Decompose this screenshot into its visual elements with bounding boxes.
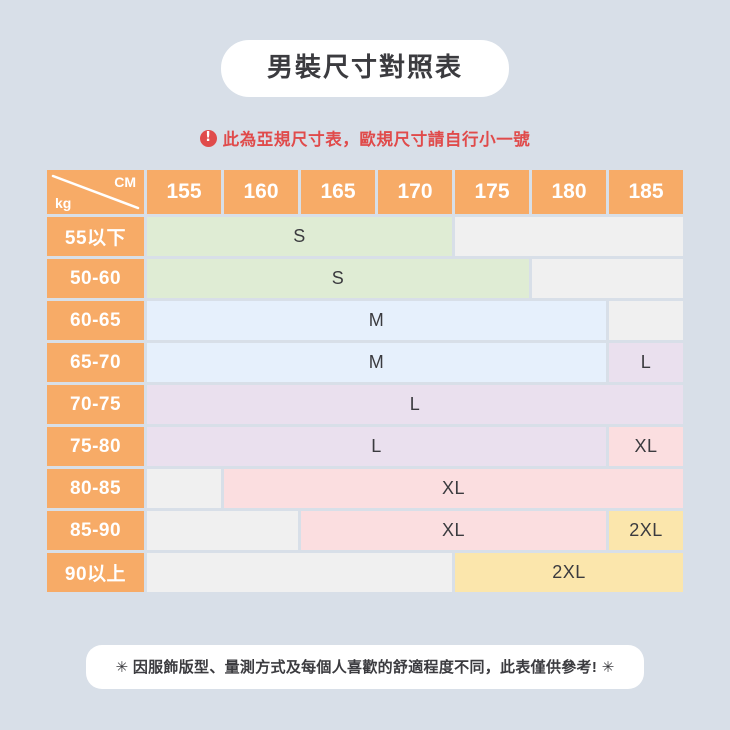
size-cell-XL: XL [301,511,606,550]
empty-cell [147,469,221,508]
empty-cell [609,301,683,340]
column-header-155: 155 [147,170,221,214]
table-row: 50-60S [47,259,683,298]
row-header-85-90: 85-90 [47,511,144,550]
size-cell-L: L [147,427,606,466]
table-row: 75-80LXL [47,427,683,466]
row-header-60-65: 60-65 [47,301,144,340]
table-row: 70-75L [47,385,683,424]
column-header-180: 180 [532,170,606,214]
size-cell-L: L [147,385,683,424]
table-row: 55以下S [47,217,683,256]
subtitle-container: ! 此為亞規尺寸表，歐規尺寸請自行小一號 [0,126,730,150]
empty-cell [455,217,683,256]
size-cell-M: M [147,343,606,382]
axis-label-cm: CM [114,174,136,190]
page-title-container: 男裝尺寸對照表 [0,40,730,97]
page-title: 男裝尺寸對照表 [221,40,509,97]
axis-label-kg: kg [55,195,71,211]
table-row: 80-85XL [47,469,683,508]
row-header-65-70: 65-70 [47,343,144,382]
row-header-80-85: 80-85 [47,469,144,508]
column-header-185: 185 [609,170,683,214]
empty-cell [532,259,683,298]
column-header-165: 165 [301,170,375,214]
size-cell-S: S [147,259,529,298]
size-cell-2XL: 2XL [455,553,683,592]
column-header-170: 170 [378,170,452,214]
footer-note: ✳ 因服飾版型、量測方式及每個人喜歡的舒適程度不同，此表僅供參考! ✳ [86,645,645,689]
size-chart-table: CMkg15516016517017518018555以下S50-60S60-6… [47,170,683,592]
row-header-75-80: 75-80 [47,427,144,466]
row-header-50-60: 50-60 [47,259,144,298]
table-row: 85-90XL2XL [47,511,683,550]
size-cell-XL: XL [609,427,683,466]
axis-corner-cell: CMkg [47,170,144,214]
row-header-70-75: 70-75 [47,385,144,424]
table-row: 65-70ML [47,343,683,382]
column-header-175: 175 [455,170,529,214]
size-cell-2XL: 2XL [609,511,683,550]
column-header-160: 160 [224,170,298,214]
size-cell-L: L [609,343,683,382]
warning-icon: ! [200,130,217,147]
size-cell-XL: XL [224,469,683,508]
row-header-55以下: 55以下 [47,217,144,256]
table-header-row: CMkg155160165170175180185 [47,170,683,214]
size-cell-M: M [147,301,606,340]
footer-container: ✳ 因服飾版型、量測方式及每個人喜歡的舒適程度不同，此表僅供參考! ✳ [0,645,730,689]
subtitle-text: 此為亞規尺寸表，歐規尺寸請自行小一號 [223,126,531,150]
size-cell-S: S [147,217,452,256]
row-header-90以上: 90以上 [47,553,144,592]
empty-cell [147,553,452,592]
table-row: 60-65M [47,301,683,340]
size-chart-page: 男裝尺寸對照表 ! 此為亞規尺寸表，歐規尺寸請自行小一號 CMkg1551601… [0,0,730,730]
table-row: 90以上2XL [47,553,683,592]
empty-cell [147,511,298,550]
